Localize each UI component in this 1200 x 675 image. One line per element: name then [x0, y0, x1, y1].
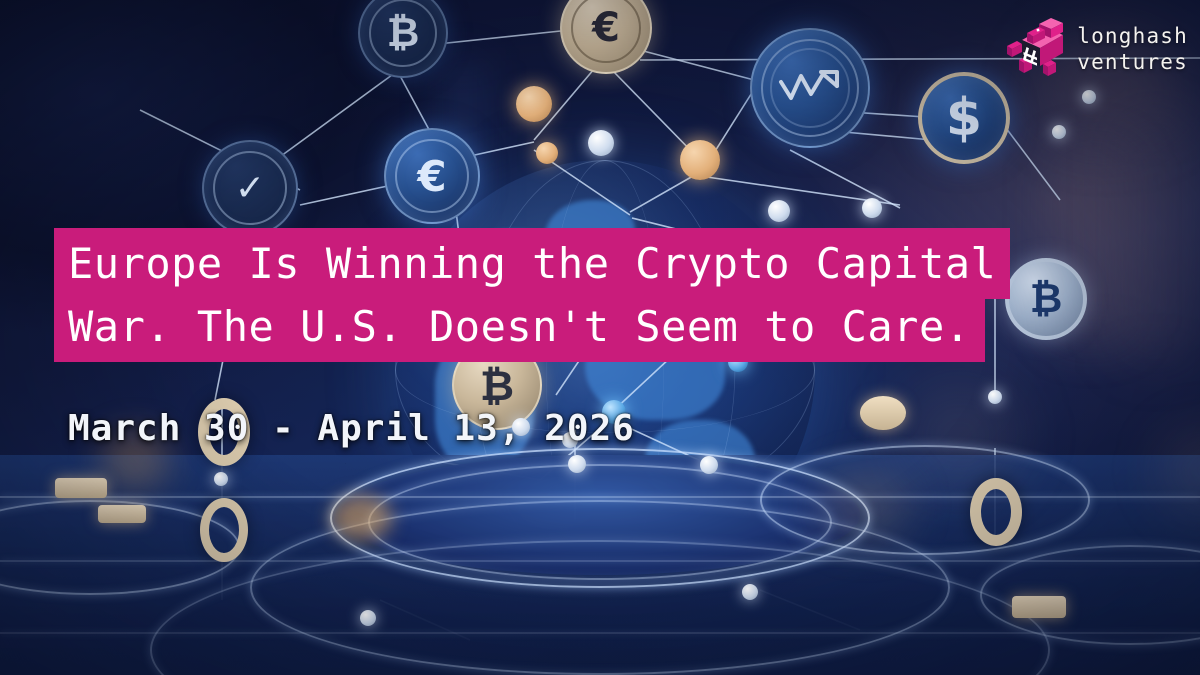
bitcoin-symbol: ₿: [480, 361, 514, 410]
longhash-ventures-logo[interactable]: longhash ventures: [1005, 16, 1188, 82]
network-node: [742, 584, 758, 600]
bokeh-light: [820, 470, 910, 540]
network-node: [1052, 125, 1066, 139]
network-node: [988, 390, 1002, 404]
logo-wordmark: longhash ventures: [1077, 23, 1188, 75]
network-node: [1082, 90, 1096, 104]
network-node: [536, 142, 558, 164]
chip-token: [55, 478, 107, 498]
network-node: [862, 198, 882, 218]
floor-line: [0, 496, 1200, 498]
logo-name-line-1: longhash: [1077, 23, 1188, 49]
bokeh-light: [900, 380, 1020, 490]
bokeh-light: [330, 495, 392, 541]
dateline: March 30 - April 13, 2026: [68, 408, 635, 449]
dollar-coin: $: [918, 72, 1010, 164]
headline-line-1: Europe Is Winning the Crypto Capital: [68, 228, 996, 299]
floor-line: [0, 560, 1200, 562]
chip-token: [860, 396, 906, 430]
network-node: [700, 456, 718, 474]
news-card: ₿ € € $ ✓ ₿ ₿: [0, 0, 1200, 675]
chart-coin: [750, 28, 870, 148]
floor-line: [0, 632, 1200, 634]
torus-ring: [970, 478, 1022, 546]
torus-ring: [200, 498, 248, 562]
network-node: [214, 472, 228, 486]
chip-token: [1012, 596, 1066, 618]
network-node: [588, 130, 614, 156]
headline-line-2: War. The U.S. Doesn't Seem to Care.: [68, 291, 971, 362]
euro-coin-mid-left: €: [384, 128, 480, 224]
network-node: [768, 200, 790, 222]
network-node: [360, 610, 376, 626]
headline: Europe Is Winning the Crypto Capital War…: [68, 232, 1068, 358]
network-node: [516, 86, 552, 122]
longhash-pixel-dino-icon: [1005, 16, 1067, 82]
network-node: [680, 140, 720, 180]
dollar-symbol: $: [946, 88, 982, 148]
checkmark-coin: ✓: [202, 140, 298, 236]
logo-name-line-2: ventures: [1077, 49, 1188, 75]
chip-token: [98, 505, 146, 523]
network-node: [568, 455, 586, 473]
longhash-mark-svg: [1005, 16, 1067, 82]
